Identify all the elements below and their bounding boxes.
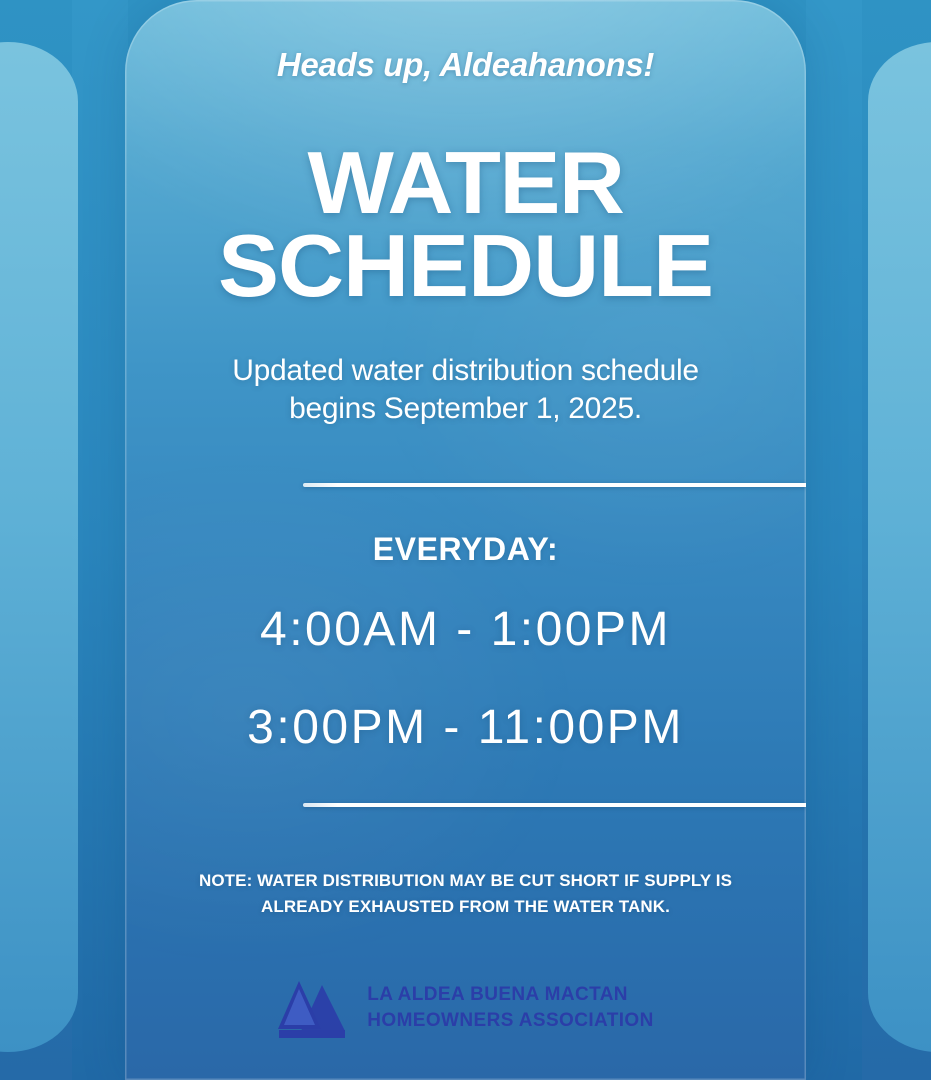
subtitle-line-1: Updated water distribution schedule	[125, 352, 806, 390]
title-line-2: SCHEDULE	[125, 225, 806, 308]
water-schedule-poster: Heads up, Aldeahanons! WATER SCHEDULE Up…	[0, 0, 931, 1080]
divider-bottom	[303, 803, 806, 807]
organization-line-1: LA ALDEA BUENA MACTAN	[367, 982, 653, 1008]
title-line-1: WATER	[125, 142, 806, 225]
page-title: WATER SCHEDULE	[125, 142, 806, 307]
background-pillar-right	[868, 42, 931, 1052]
organization-line-2: HOMEOWNERS ASSOCIATION	[367, 1008, 653, 1034]
background-gutter-left	[72, 0, 128, 1080]
mountain-triangle-logo-icon	[277, 975, 349, 1041]
footer-branding: LA ALDEA BUENA MACTAN HOMEOWNERS ASSOCIA…	[125, 975, 806, 1041]
note-line-2: ALREADY EXHAUSTED FROM THE WATER TANK.	[173, 894, 758, 920]
divider-top	[303, 483, 806, 487]
note-line-1: NOTE: WATER DISTRIBUTION MAY BE CUT SHOR…	[173, 868, 758, 894]
organization-name: LA ALDEA BUENA MACTAN HOMEOWNERS ASSOCIA…	[367, 982, 653, 1034]
card-content: Heads up, Aldeahanons! WATER SCHEDULE Up…	[125, 0, 806, 1080]
announcement-card: Heads up, Aldeahanons! WATER SCHEDULE Up…	[125, 0, 806, 1080]
schedule-slot-morning: 4:00AM - 1:00PM	[125, 602, 806, 657]
schedule-heading: EVERYDAY:	[125, 531, 806, 568]
subtitle-line-2: begins September 1, 2025.	[125, 390, 806, 428]
schedule-slot-evening: 3:00PM - 11:00PM	[125, 700, 806, 755]
kicker-text: Heads up, Aldeahanons!	[125, 46, 806, 84]
subtitle: Updated water distribution schedule begi…	[125, 352, 806, 428]
background-pillar-left	[0, 42, 78, 1052]
background-gutter-right	[806, 0, 862, 1080]
note-text: NOTE: WATER DISTRIBUTION MAY BE CUT SHOR…	[173, 868, 758, 919]
